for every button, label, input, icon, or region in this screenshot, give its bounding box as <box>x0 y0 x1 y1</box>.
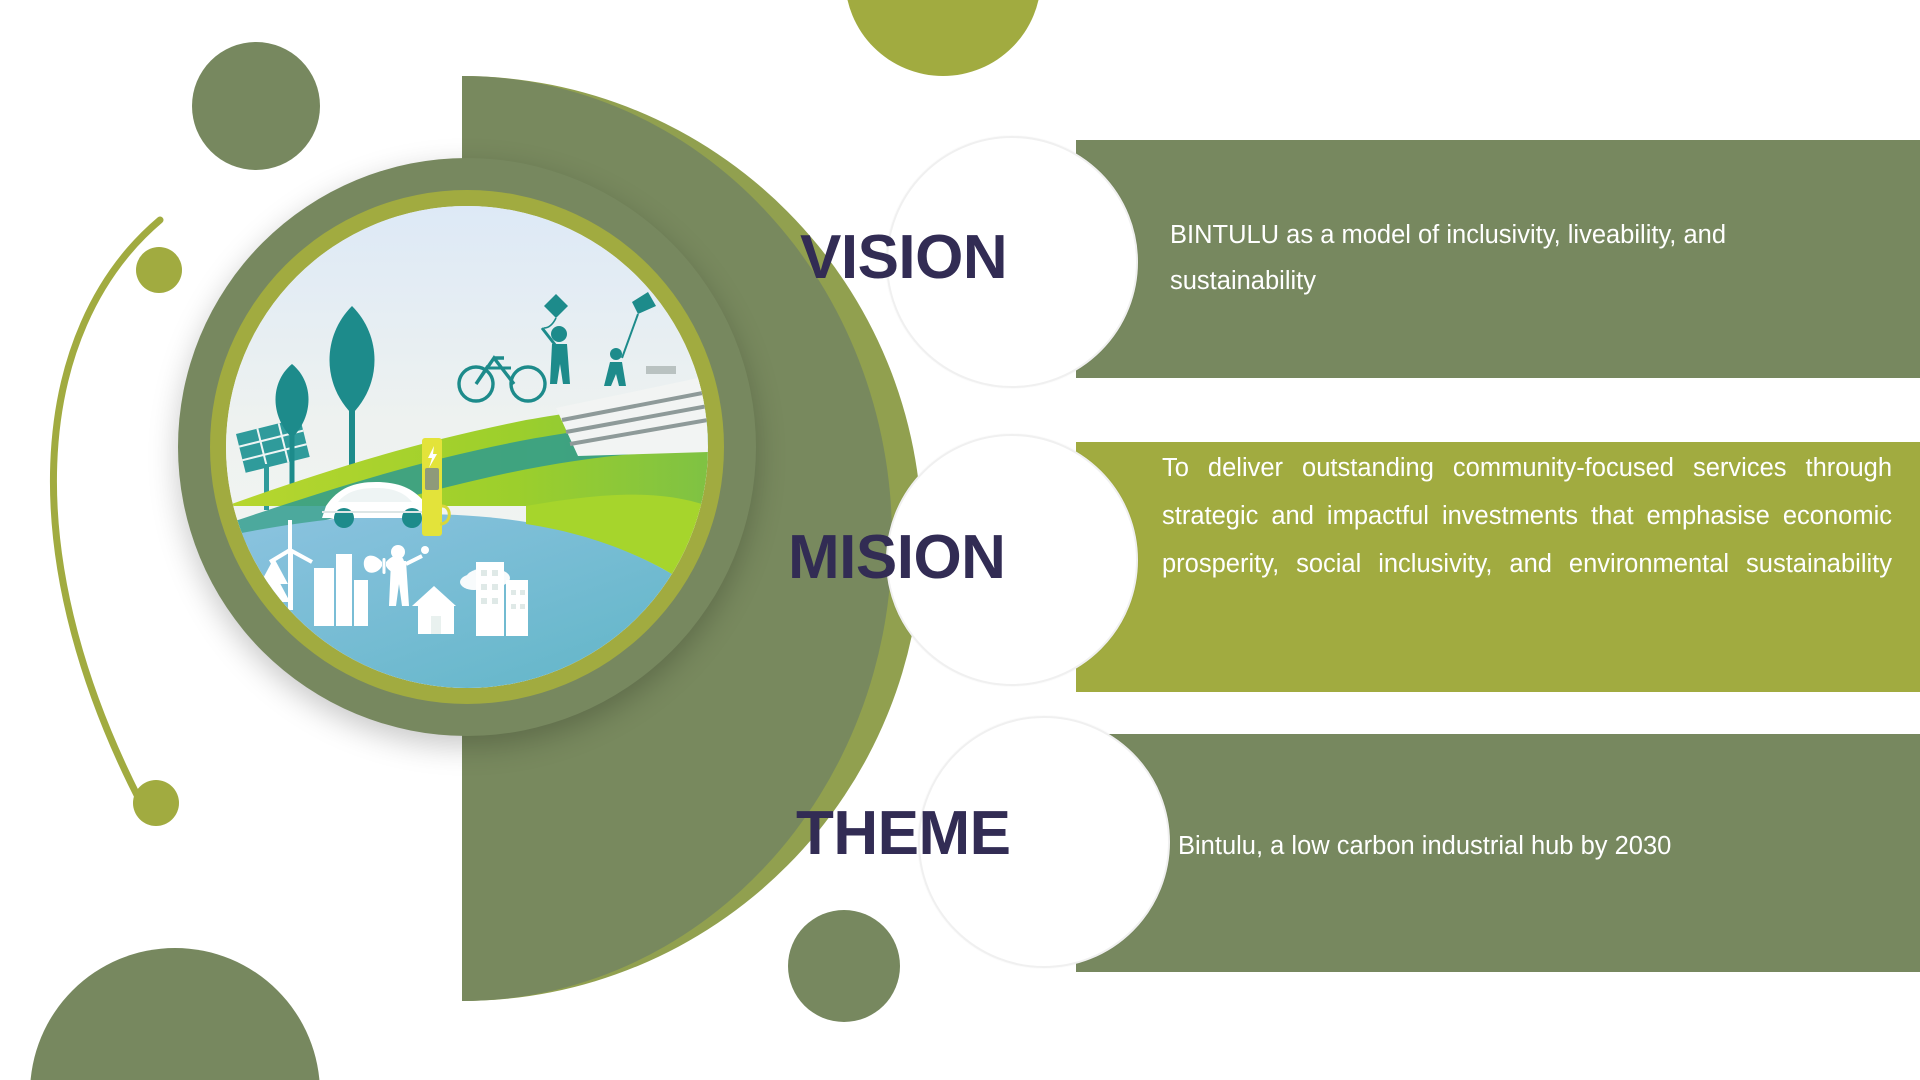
vision-label: VISION <box>800 222 1007 293</box>
bottom-sage-circle <box>788 910 900 1022</box>
top-olive-circle <box>845 0 1041 76</box>
theme-text: Bintulu, a low carbon industrial hub by … <box>1178 826 1878 866</box>
illustration-frame <box>226 206 708 688</box>
sustainable-city-illustration <box>226 206 708 688</box>
theme-label: THEME <box>796 798 1011 869</box>
top-left-sage-circle <box>192 42 320 170</box>
mission-text: To deliver outstanding community-focused… <box>1162 444 1892 588</box>
mission-label: MISION <box>788 522 1005 593</box>
slide-canvas: BINTULU as a model of inclusivity, livea… <box>0 0 1920 1080</box>
vision-text: BINTULU as a model of inclusivity, livea… <box>1170 212 1830 304</box>
arc-dot-top-icon <box>136 247 182 293</box>
bottom-left-sage-circle <box>30 948 320 1080</box>
arc-dot-bottom-icon <box>133 780 179 826</box>
